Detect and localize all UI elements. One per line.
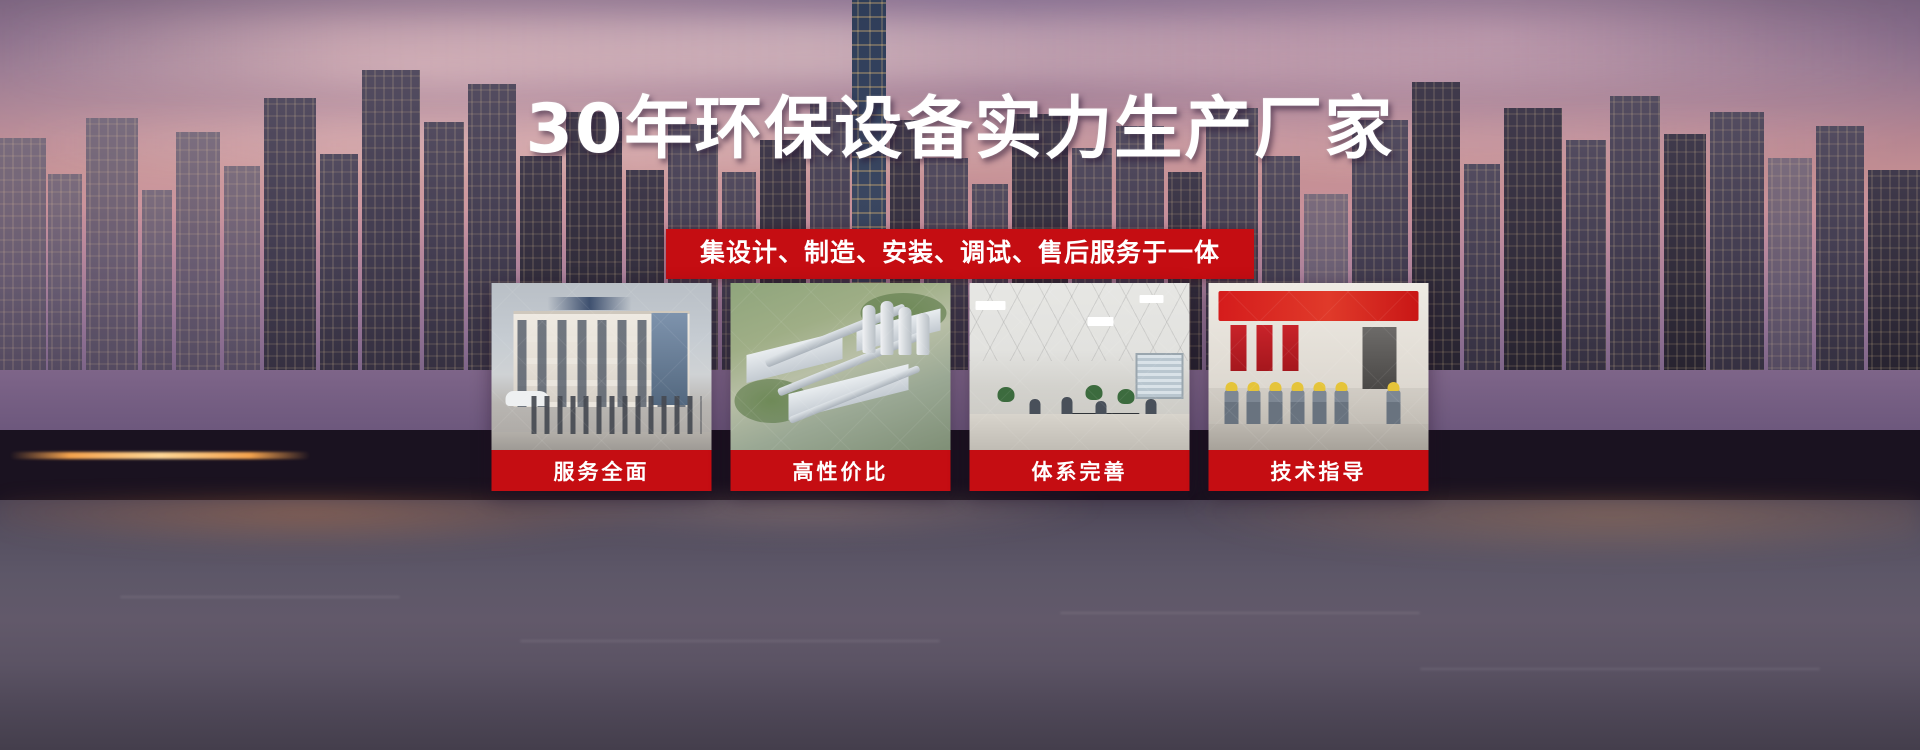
ceiling-light-panel-3 [1140, 295, 1164, 303]
storage-silo-2 [881, 301, 894, 355]
card-label: 高性价比 [731, 450, 951, 491]
ceiling-light-panel-1 [976, 301, 1006, 310]
water-streak-1 [120, 596, 400, 598]
hero-banner: 30年环保设备实力生产厂家 集设计、制造、安装、调试、售后服务于一体 服务全面 [0, 0, 1920, 750]
card-photo-workshop [1209, 283, 1429, 450]
building-mid-17 [1566, 140, 1606, 370]
vertical-slogan-2 [1257, 325, 1273, 371]
building-mid-16 [1464, 164, 1500, 370]
feature-card[interactable]: 高性价比 [731, 283, 951, 491]
illuminated-bridge [10, 452, 310, 459]
storage-silo-3 [899, 307, 912, 355]
plaza-ground [492, 432, 712, 450]
banner-subtitle-text: 集设计、制造、安装、调试、售后服务于一体 [700, 238, 1220, 268]
feature-card[interactable]: 体系完善 [970, 283, 1190, 491]
workshop-red-banner [1219, 291, 1419, 321]
building-far-6 [224, 166, 260, 370]
potted-plant-2 [1086, 385, 1103, 400]
feature-card[interactable]: 服务全面 [492, 283, 712, 491]
glass-facade [652, 313, 688, 405]
vertical-slogan-3 [1283, 325, 1299, 371]
potted-plant-1 [998, 387, 1015, 402]
vertical-slogan-1 [1231, 325, 1247, 371]
banner-subtitle-bar: 集设计、制造、安装、调试、售后服务于一体 [666, 229, 1254, 279]
window-blinds [1136, 353, 1184, 399]
feature-card-row: 服务全面 高性价比 [492, 283, 1429, 491]
building-far-1 [0, 138, 46, 370]
building-far-4 [142, 190, 172, 370]
staff-lineup [532, 396, 702, 434]
water-streak-3 [1060, 612, 1420, 614]
potted-plant-3 [1118, 389, 1135, 404]
card-photo-aerial-plant [731, 283, 951, 450]
storage-silo-1 [863, 305, 876, 353]
company-sign [548, 297, 632, 310]
building-near-10 [1664, 134, 1706, 370]
water-streak-4 [1420, 668, 1820, 670]
building-near-11 [1868, 170, 1920, 370]
card-photo-office-interior [970, 283, 1190, 450]
banner-headline: 30年环保设备实力生产厂家 [0, 96, 1920, 164]
office-floor [970, 414, 1190, 450]
feature-card[interactable]: 技术指导 [1209, 283, 1429, 491]
water-streak-2 [520, 640, 940, 642]
building-far-5 [176, 132, 220, 370]
card-label: 技术指导 [1209, 450, 1429, 491]
building-far-8 [1768, 158, 1812, 370]
workshop-door [1363, 327, 1397, 389]
workshop-floor [1209, 424, 1429, 450]
water-reflection-glow [0, 498, 1920, 608]
card-label: 服务全面 [492, 450, 712, 491]
storage-silo-4 [917, 313, 930, 355]
building-mid-2 [320, 154, 358, 370]
building-far-2 [48, 174, 82, 370]
ceiling-light-panel-2 [1088, 317, 1114, 326]
card-label: 体系完善 [970, 450, 1190, 491]
card-photo-office-building [492, 283, 712, 450]
